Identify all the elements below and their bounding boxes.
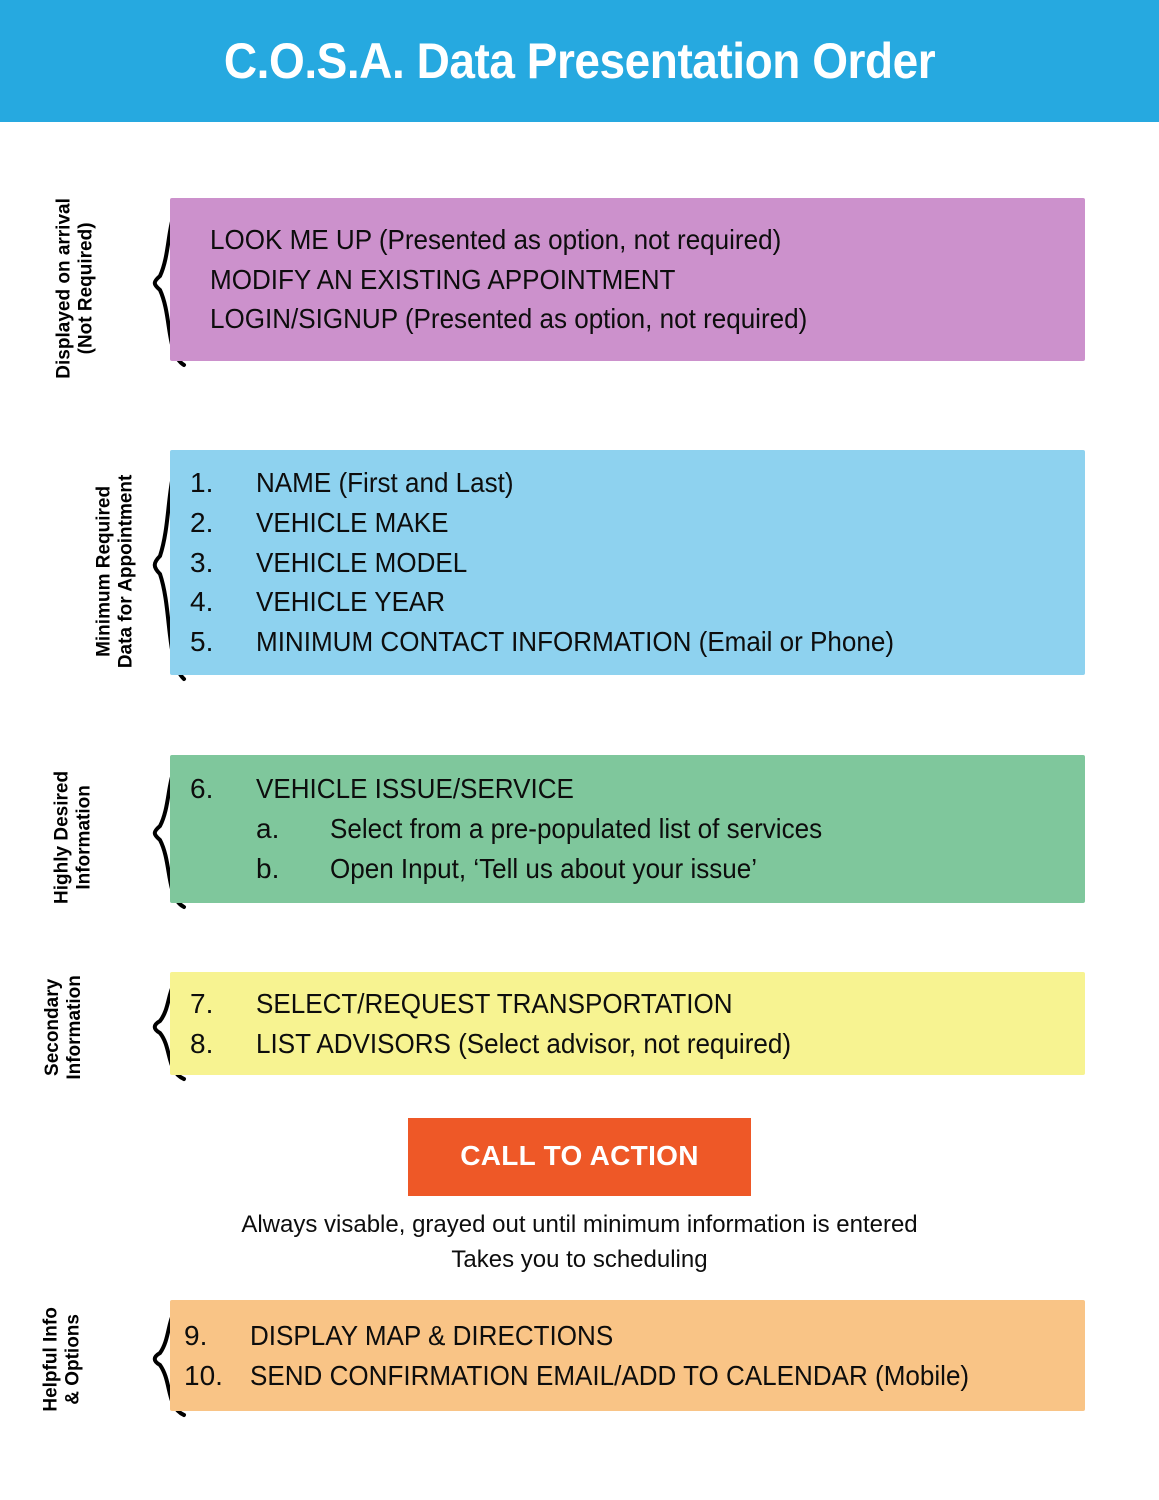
side-label-minimum: Minimum Required Data for Appointment: [94, 438, 139, 704]
section-helpful: Helpful Info & Options 9.DISPLAY MAP & D…: [0, 1300, 1159, 1418]
list-item-number: 1.: [190, 463, 256, 503]
side-label-minimum-line1: Minimum Required: [94, 486, 115, 657]
list-item-number: 4.: [190, 582, 256, 622]
side-label-helpful: Helpful Info & Options: [41, 1269, 86, 1449]
band-arrival: LOOK ME UP (Presented as option, not req…: [170, 198, 1085, 361]
list-item-number: 2.: [190, 503, 256, 543]
side-label-helpful-line2: & Options: [63, 1314, 84, 1405]
side-label-desired-line2: Information: [74, 785, 95, 890]
section-desired: Highly Desired Information 6.VEHICLE ISS…: [0, 755, 1159, 910]
list-item-sub: b.Open Input, ‘Tell us about your issue’: [190, 849, 1085, 889]
list-item-number: 8.: [190, 1024, 256, 1064]
list-item-sub: a.Select from a pre-populated list of se…: [190, 809, 1085, 849]
list-item-text: VEHICLE MAKE: [256, 503, 448, 543]
list-item-text: MINIMUM CONTACT INFORMATION (Email or Ph…: [256, 622, 894, 662]
list-item-number: 3.: [190, 543, 256, 583]
call-to-action-button[interactable]: CALL TO ACTION: [408, 1118, 751, 1196]
list-item-text: NAME (First and Last): [256, 463, 514, 503]
band-secondary: 7.SELECT/REQUEST TRANSPORTATION 8.LIST A…: [170, 972, 1085, 1075]
list-item: 4.VEHICLE YEAR: [190, 582, 1085, 622]
side-label-desired: Highly Desired Information: [52, 727, 97, 947]
list-item-text: DISPLAY MAP & DIRECTIONS: [250, 1316, 613, 1356]
list-item: MODIFY AN EXISTING APPOINTMENT: [210, 260, 1085, 300]
list-item: 5.MINIMUM CONTACT INFORMATION (Email or …: [190, 622, 1085, 662]
list-item-number: 5.: [190, 622, 256, 662]
band-helpful: 9.DISPLAY MAP & DIRECTIONS 10.SEND CONFI…: [170, 1300, 1085, 1411]
list-item: 3.VEHICLE MODEL: [190, 543, 1085, 583]
list-item-text: LOOK ME UP (Presented as option, not req…: [210, 220, 781, 260]
list-item-number: 7.: [190, 984, 256, 1024]
list-item: 7.SELECT/REQUEST TRANSPORTATION: [190, 984, 1085, 1024]
list-item-text: VEHICLE ISSUE/SERVICE: [256, 769, 574, 809]
list-item-number: 10.: [184, 1356, 250, 1396]
list-item: 9.DISPLAY MAP & DIRECTIONS: [184, 1316, 1085, 1356]
band-desired: 6.VEHICLE ISSUE/SERVICE a.Select from a …: [170, 755, 1085, 903]
side-label-secondary-line2: Information: [65, 975, 86, 1080]
side-label-arrival: Displayed on arrival (Not Required): [54, 172, 99, 404]
page-title: C.O.S.A. Data Presentation Order: [224, 36, 935, 86]
list-item: 10.SEND CONFIRMATION EMAIL/ADD TO CALEND…: [184, 1356, 1085, 1396]
cta-notes: Always visable, grayed out until minimum…: [0, 1208, 1159, 1278]
list-item: 6.VEHICLE ISSUE/SERVICE: [190, 769, 1085, 809]
header-banner: C.O.S.A. Data Presentation Order: [0, 0, 1159, 122]
list-item-text: Select from a pre-populated list of serv…: [330, 809, 822, 849]
list-item-text: SEND CONFIRMATION EMAIL/ADD TO CALENDAR …: [250, 1356, 969, 1396]
list-item-text: MODIFY AN EXISTING APPOINTMENT: [210, 260, 675, 300]
side-label-secondary: Secondary Information: [42, 940, 87, 1115]
list-item: LOGIN/SIGNUP (Presented as option, not r…: [210, 299, 1085, 339]
side-label-arrival-line1: Displayed on arrival: [54, 198, 75, 379]
list-item: 1.NAME (First and Last): [190, 463, 1085, 503]
cta-note-line-1: Always visable, grayed out until minimum…: [0, 1208, 1159, 1243]
cta-wrapper: CALL TO ACTION: [0, 1118, 1159, 1196]
cta-note-line-2: Takes you to scheduling: [0, 1243, 1159, 1278]
list-item: LOOK ME UP (Presented as option, not req…: [210, 220, 1085, 260]
list-item-number: b.: [256, 849, 330, 889]
list-item-text: LIST ADVISORS (Select advisor, not requi…: [256, 1024, 791, 1064]
section-secondary: Secondary Information 7.SELECT/REQUEST T…: [0, 972, 1159, 1082]
band-minimum: 1.NAME (First and Last) 2.VEHICLE MAKE 3…: [170, 450, 1085, 675]
list-item: 8.LIST ADVISORS (Select advisor, not req…: [190, 1024, 1085, 1064]
side-label-arrival-line2: (Not Required): [76, 222, 97, 354]
list-item-number: a.: [256, 809, 330, 849]
side-label-secondary-line1: Secondary: [42, 979, 63, 1076]
side-label-helpful-line1: Helpful Info: [41, 1307, 62, 1411]
section-arrival: Displayed on arrival (Not Required) LOOK…: [0, 198, 1159, 368]
side-label-minimum-line2: Data for Appointment: [116, 475, 137, 669]
list-item-number: 9.: [184, 1316, 250, 1356]
list-item-text: Open Input, ‘Tell us about your issue’: [330, 849, 757, 889]
list-item-text: SELECT/REQUEST TRANSPORTATION: [256, 984, 733, 1024]
list-item: 2.VEHICLE MAKE: [190, 503, 1085, 543]
side-label-desired-line1: Highly Desired: [52, 771, 73, 904]
list-item-text: LOGIN/SIGNUP (Presented as option, not r…: [210, 299, 807, 339]
section-minimum: Minimum Required Data for Appointment 1.…: [0, 450, 1159, 682]
list-item-text: VEHICLE YEAR: [256, 582, 445, 622]
list-item-number: 6.: [190, 769, 256, 809]
list-item-text: VEHICLE MODEL: [256, 543, 467, 583]
